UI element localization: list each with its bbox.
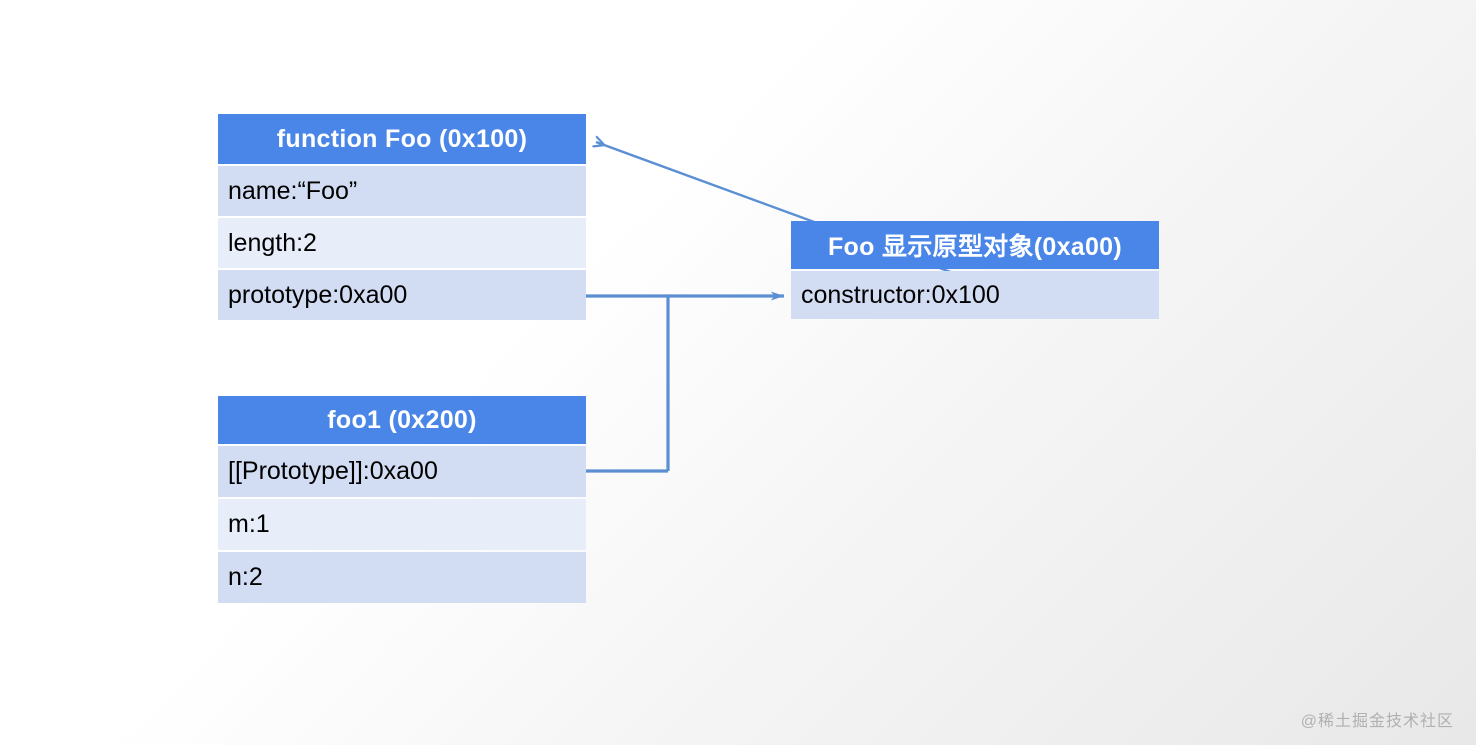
object-header-foo1: foo1 (0x200) — [218, 396, 586, 444]
object-box-foo-prototype: Foo 显示原型对象(0xa00) constructor:0x100 — [791, 221, 1159, 319]
object-row-n: n:2 — [218, 552, 586, 603]
object-header-function-foo: function Foo (0x100) — [218, 114, 586, 164]
object-header-foo-prototype: Foo 显示原型对象(0xa00) — [791, 221, 1159, 269]
object-row-m: m:1 — [218, 499, 586, 550]
object-row-length: length:2 — [218, 218, 586, 268]
connector-prototype-to-proto-object — [565, 296, 784, 471]
object-box-foo1: foo1 (0x200) [[Prototype]]:0xa00 m:1 n:2 — [218, 396, 586, 603]
object-row-internal-prototype: [[Prototype]]:0xa00 — [218, 446, 586, 497]
object-row-constructor: constructor:0x100 — [791, 271, 1159, 319]
diagram-canvas: function Foo (0x100) name:“Foo” length:2… — [0, 0, 1476, 745]
object-box-function-foo: function Foo (0x100) name:“Foo” length:2… — [218, 114, 586, 320]
object-row-name: name:“Foo” — [218, 166, 586, 216]
watermark-text: @稀土掘金技术社区 — [1301, 707, 1454, 731]
connector-layer — [0, 0, 1476, 745]
object-row-prototype: prototype:0xa00 — [218, 270, 586, 320]
